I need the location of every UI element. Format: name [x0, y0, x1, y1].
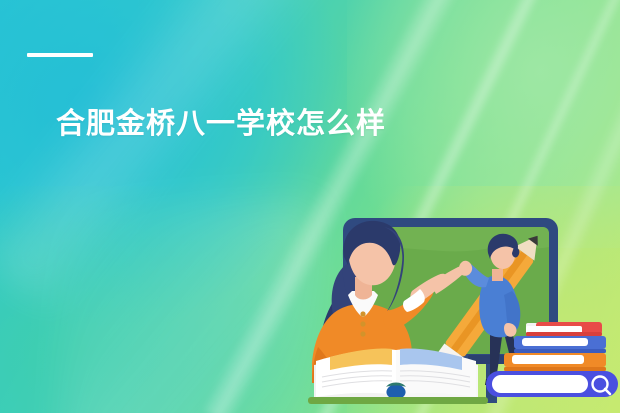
education-illustration: [300, 205, 620, 413]
page-title: 合肥金桥八一学校怎么样: [56, 104, 386, 144]
banner-root: 合肥金桥八一学校怎么样: [0, 0, 620, 413]
search-bar[interactable]: [486, 371, 618, 397]
open-book: [308, 348, 488, 404]
accent-bar: [27, 53, 93, 57]
search-input[interactable]: [492, 375, 588, 393]
